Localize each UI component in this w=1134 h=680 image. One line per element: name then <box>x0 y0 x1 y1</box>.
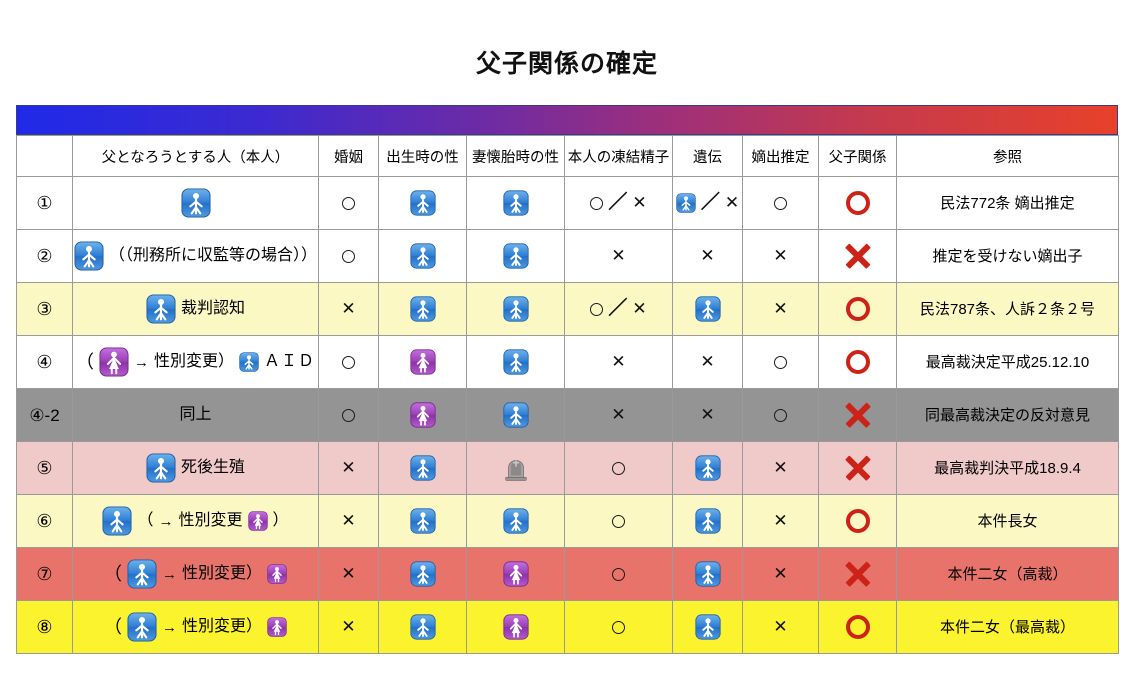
male-person-icon <box>410 190 436 216</box>
row-number: ① <box>36 194 52 212</box>
x-mark: ✕ <box>773 301 787 318</box>
header-cell-genetics: 遺伝 <box>673 136 743 177</box>
male-person-icon <box>102 506 132 536</box>
male-person-icon <box>695 508 721 534</box>
cell-reference: 民法787条、人訴２条２号 <box>897 283 1119 336</box>
cell-marriage: ✕ <box>319 283 379 336</box>
cell-conception-sex <box>467 230 565 283</box>
cell-conception-sex <box>467 336 565 389</box>
male-person-icon <box>127 612 157 642</box>
male-person-icon <box>146 453 176 483</box>
circle-mark <box>612 515 625 528</box>
male-person-icon <box>410 455 436 481</box>
x-mark: ✕ <box>773 248 787 265</box>
cell-birth-sex <box>379 230 467 283</box>
male-person-icon <box>503 296 529 322</box>
header-label-relation: 父子関係 <box>829 146 887 167</box>
female-person-icon <box>503 614 529 640</box>
person-note: 性別変更 <box>178 513 242 529</box>
person-note: 死後生殖 <box>181 460 245 476</box>
table-row: ⑧（→性別変更）✕✕本件二女（最高裁） <box>17 601 1119 654</box>
header-label-reference: 参照 <box>993 146 1022 167</box>
cell-frozen-sperm <box>565 548 673 601</box>
circle-mark <box>774 356 787 369</box>
cell-person: （→性別変更） <box>73 601 319 654</box>
page-title: 父子関係の確定 <box>0 0 1134 77</box>
circle-mark <box>342 409 355 422</box>
cell-relation <box>819 283 897 336</box>
header-cell-num <box>17 136 73 177</box>
cell-reference: 本件二女（高裁） <box>897 548 1119 601</box>
circle-mark <box>342 250 355 263</box>
cell-marriage: ✕ <box>319 442 379 495</box>
cell-row-number: ⑤ <box>17 442 73 495</box>
cell-person: 同上 <box>73 389 319 442</box>
row-number: ⑥ <box>36 512 52 530</box>
cell-person: （→性別変更） <box>73 548 319 601</box>
person-note: 裁判認知 <box>181 301 245 317</box>
cell-conception-sex <box>467 601 565 654</box>
circle-mark <box>342 197 355 210</box>
table-container: 父となろうとする人（本人） 婚姻 出生時の性 妻懐胎時の性 本人の凍結精子 遺伝… <box>16 105 1118 654</box>
female-person-icon <box>503 561 529 587</box>
cell-marriage <box>319 336 379 389</box>
male-person-icon <box>74 241 104 271</box>
cell-presumption: ✕ <box>743 283 819 336</box>
cell-frozen-sperm: ✕ <box>565 230 673 283</box>
big-x-mark <box>845 561 871 587</box>
cell-marriage <box>319 230 379 283</box>
cell-genetics <box>673 601 743 654</box>
aid-label: ＡＩＤ <box>264 354 315 370</box>
cell-frozen-sperm <box>565 601 673 654</box>
row-number: ⑦ <box>36 565 52 583</box>
header-cell-reference: 参照 <box>897 136 1119 177</box>
x-mark: ✕ <box>773 619 787 636</box>
male-person-icon <box>695 614 721 640</box>
cell-reference: 民法772条 嫡出推定 <box>897 177 1119 230</box>
cell-relation <box>819 495 897 548</box>
reference-text: 同最高裁決定の反対意見 <box>925 408 1090 423</box>
grave-icon <box>501 453 531 483</box>
big-x-mark <box>845 402 871 428</box>
female-person-icon <box>267 564 287 584</box>
cell-reference: 最高裁決定平成25.12.10 <box>897 336 1119 389</box>
circle-mark <box>590 303 603 316</box>
paren-open: （ <box>104 565 122 583</box>
female-person-icon <box>99 347 129 377</box>
big-circle-mark <box>846 615 870 639</box>
table-row: ⑥（→性別変更）✕✕本件長女 <box>17 495 1119 548</box>
paren-close: ） <box>273 513 289 529</box>
table-row: ④（→性別変更）ＡＩＤ✕✕最高裁決定平成25.12.10 <box>17 336 1119 389</box>
row-number: ③ <box>36 300 52 318</box>
reference-text: 民法772条 嫡出推定 <box>940 196 1074 211</box>
header-row: 父となろうとする人（本人） 婚姻 出生時の性 妻懐胎時の性 本人の凍結精子 遺伝… <box>17 136 1119 177</box>
header-cell-birth-sex: 出生時の性 <box>379 136 467 177</box>
male-person-icon <box>146 294 176 324</box>
header-cell-marriage: 婚姻 <box>319 136 379 177</box>
x-mark: ✕ <box>700 248 714 265</box>
cell-birth-sex <box>379 442 467 495</box>
male-person-icon <box>695 296 721 322</box>
cell-presumption: ✕ <box>743 548 819 601</box>
male-person-icon <box>695 455 721 481</box>
big-circle-mark <box>846 191 870 215</box>
cell-frozen-sperm <box>565 442 673 495</box>
reference-text: 本件二女（高裁） <box>947 567 1067 582</box>
cell-presumption <box>743 336 819 389</box>
cell-presumption: ✕ <box>743 601 819 654</box>
cell-genetics: ✕ <box>673 389 743 442</box>
cell-frozen-sperm: ✕ <box>565 389 673 442</box>
male-person-icon <box>503 508 529 534</box>
x-mark: ✕ <box>632 301 646 318</box>
cell-frozen-sperm: ／✕ <box>565 283 673 336</box>
cell-conception-sex <box>467 442 565 495</box>
slash-mark: ／ <box>608 193 627 212</box>
cell-birth-sex <box>379 389 467 442</box>
arrow-icon: → <box>162 620 177 635</box>
cell-conception-sex <box>467 283 565 336</box>
reference-text: 最高裁決定平成25.12.10 <box>926 355 1089 370</box>
person-note: 性別変更） <box>182 566 262 582</box>
cell-relation <box>819 442 897 495</box>
cell-relation <box>819 230 897 283</box>
male-person-icon <box>503 349 529 375</box>
female-person-icon <box>267 617 287 637</box>
female-person-icon <box>410 402 436 428</box>
male-person-icon <box>410 243 436 269</box>
cell-marriage <box>319 177 379 230</box>
cell-birth-sex <box>379 601 467 654</box>
cell-person <box>73 177 319 230</box>
reference-text: 本件二女（最高裁） <box>940 620 1075 635</box>
cell-marriage: ✕ <box>319 548 379 601</box>
cell-genetics: ／✕ <box>673 177 743 230</box>
cell-row-number: ② <box>17 230 73 283</box>
header-label-marriage: 婚姻 <box>334 146 363 167</box>
x-mark: ✕ <box>773 566 787 583</box>
x-mark: ✕ <box>341 566 355 583</box>
cell-person: （→性別変更）ＡＩＤ <box>73 336 319 389</box>
row-number: ⑧ <box>36 618 52 636</box>
header-label-conception-sex: 妻懐胎時の性 <box>472 146 559 167</box>
cell-reference: 最高裁判決平成18.9.4 <box>897 442 1119 495</box>
x-mark: ✕ <box>725 195 739 212</box>
cell-row-number: ⑧ <box>17 601 73 654</box>
header-cell-relation: 父子関係 <box>819 136 897 177</box>
x-mark: ✕ <box>341 460 355 477</box>
female-person-icon <box>248 511 268 531</box>
cell-row-number: ⑥ <box>17 495 73 548</box>
cell-reference: 本件二女（最高裁） <box>897 601 1119 654</box>
cell-reference: 本件長女 <box>897 495 1119 548</box>
cell-frozen-sperm <box>565 495 673 548</box>
arrow-icon: → <box>158 514 173 529</box>
male-person-icon <box>410 296 436 322</box>
row-number: ④ <box>36 353 52 371</box>
cell-genetics <box>673 283 743 336</box>
cell-presumption: ✕ <box>743 230 819 283</box>
person-note: （ <box>137 513 153 529</box>
person-note: （（刑務所に収監等の場合）） <box>109 248 317 264</box>
reference-text: 本件長女 <box>977 514 1037 529</box>
cell-person: 裁判認知 <box>73 283 319 336</box>
big-circle-mark <box>846 509 870 533</box>
slash-mark: ／ <box>701 193 720 212</box>
cell-relation <box>819 389 897 442</box>
male-person-icon <box>239 352 259 372</box>
cell-marriage: ✕ <box>319 495 379 548</box>
header-label-birth-sex: 出生時の性 <box>386 146 459 167</box>
row-number: ② <box>36 247 52 265</box>
table-header: 父となろうとする人（本人） 婚姻 出生時の性 妻懐胎時の性 本人の凍結精子 遺伝… <box>17 136 1119 177</box>
circle-mark <box>774 197 787 210</box>
cell-genetics <box>673 442 743 495</box>
cell-birth-sex <box>379 548 467 601</box>
cell-reference: 推定を受けない嫡出子 <box>897 230 1119 283</box>
x-mark: ✕ <box>611 354 625 371</box>
cell-genetics <box>673 495 743 548</box>
cell-frozen-sperm: ✕ <box>565 336 673 389</box>
x-mark: ✕ <box>611 248 625 265</box>
person-note: 性別変更） <box>182 619 262 635</box>
cell-row-number: ① <box>17 177 73 230</box>
row-number: ④-2 <box>29 407 59 424</box>
cell-birth-sex <box>379 336 467 389</box>
cell-presumption: ✕ <box>743 442 819 495</box>
big-circle-mark <box>846 350 870 374</box>
male-person-icon <box>503 402 529 428</box>
cell-person: （（刑務所に収監等の場合）） <box>73 230 319 283</box>
cell-marriage <box>319 389 379 442</box>
cell-row-number: ④-2 <box>17 389 73 442</box>
circle-mark <box>612 462 625 475</box>
header-label-genetics: 遺伝 <box>693 146 722 167</box>
x-mark: ✕ <box>341 513 355 530</box>
header-label-presumption: 嫡出推定 <box>752 146 810 167</box>
cell-relation <box>819 548 897 601</box>
x-mark: ✕ <box>611 407 625 424</box>
female-person-icon <box>410 349 436 375</box>
cell-genetics <box>673 548 743 601</box>
cell-birth-sex <box>379 177 467 230</box>
header-cell-presumption: 嫡出推定 <box>743 136 819 177</box>
cell-genetics: ✕ <box>673 336 743 389</box>
x-mark: ✕ <box>773 460 787 477</box>
table-row: ③裁判認知✕／✕✕民法787条、人訴２条２号 <box>17 283 1119 336</box>
header-cell-conception-sex: 妻懐胎時の性 <box>467 136 565 177</box>
cell-row-number: ④ <box>17 336 73 389</box>
header-cell-frozen-sperm: 本人の凍結精子 <box>565 136 673 177</box>
table-row: ⑤死後生殖✕✕最高裁判決平成18.9.4 <box>17 442 1119 495</box>
male-person-icon <box>127 559 157 589</box>
male-person-icon <box>503 190 529 216</box>
gradient-header-bar <box>16 105 1118 135</box>
big-x-mark <box>845 243 871 269</box>
male-person-icon <box>410 561 436 587</box>
cell-row-number: ③ <box>17 283 73 336</box>
arrow-icon: → <box>162 567 177 582</box>
table-row: ①／✕／✕民法772条 嫡出推定 <box>17 177 1119 230</box>
cell-reference: 同最高裁決定の反対意見 <box>897 389 1119 442</box>
person-note: 性別変更） <box>154 354 234 370</box>
header-label-person: 父となろうとする人（本人） <box>102 146 290 167</box>
male-person-icon <box>695 561 721 587</box>
x-mark: ✕ <box>773 513 787 530</box>
male-person-icon <box>410 614 436 640</box>
paren-open: （ <box>76 353 94 371</box>
circle-mark <box>612 568 625 581</box>
circle-mark <box>774 409 787 422</box>
table-row: ②（（刑務所に収監等の場合））✕✕✕推定を受けない嫡出子 <box>17 230 1119 283</box>
cell-row-number: ⑦ <box>17 548 73 601</box>
table-row: ⑦（→性別変更）✕✕本件二女（高裁） <box>17 548 1119 601</box>
circle-mark <box>612 621 625 634</box>
x-mark: ✕ <box>632 195 646 212</box>
cell-person: （→性別変更） <box>73 495 319 548</box>
cell-relation <box>819 177 897 230</box>
cell-conception-sex <box>467 495 565 548</box>
cell-presumption: ✕ <box>743 495 819 548</box>
header-label-frozen-sperm: 本人の凍結精子 <box>568 146 670 167</box>
big-x-mark <box>845 455 871 481</box>
table-body: ①／✕／✕民法772条 嫡出推定②（（刑務所に収監等の場合））✕✕✕推定を受けな… <box>17 177 1119 654</box>
x-mark: ✕ <box>341 301 355 318</box>
row-number: ⑤ <box>36 459 52 477</box>
cell-frozen-sperm: ／✕ <box>565 177 673 230</box>
cell-marriage: ✕ <box>319 601 379 654</box>
cell-person: 死後生殖 <box>73 442 319 495</box>
header-cell-person: 父となろうとする人（本人） <box>73 136 319 177</box>
reference-text: 推定を受けない嫡出子 <box>932 249 1082 264</box>
cell-conception-sex <box>467 548 565 601</box>
cell-birth-sex <box>379 495 467 548</box>
cell-presumption <box>743 177 819 230</box>
male-person-icon <box>503 243 529 269</box>
paren-open: （ <box>104 618 122 636</box>
arrow-icon: → <box>134 355 149 370</box>
male-person-icon <box>676 193 696 213</box>
cell-relation <box>819 601 897 654</box>
x-mark: ✕ <box>700 354 714 371</box>
circle-mark <box>590 197 603 210</box>
cell-genetics: ✕ <box>673 230 743 283</box>
male-person-icon <box>181 188 211 218</box>
cell-presumption <box>743 389 819 442</box>
father-child-relationship-table: 父となろうとする人（本人） 婚姻 出生時の性 妻懐胎時の性 本人の凍結精子 遺伝… <box>16 135 1119 654</box>
person-note: 同上 <box>179 407 211 423</box>
cell-relation <box>819 336 897 389</box>
table-row: ④-2同上✕✕同最高裁決定の反対意見 <box>17 389 1119 442</box>
x-mark: ✕ <box>341 619 355 636</box>
reference-text: 民法787条、人訴２条２号 <box>920 302 1095 317</box>
big-circle-mark <box>846 297 870 321</box>
circle-mark <box>342 356 355 369</box>
x-mark: ✕ <box>700 407 714 424</box>
reference-text: 最高裁判決平成18.9.4 <box>934 461 1081 476</box>
cell-conception-sex <box>467 389 565 442</box>
cell-conception-sex <box>467 177 565 230</box>
slash-mark: ／ <box>608 299 627 318</box>
cell-birth-sex <box>379 283 467 336</box>
male-person-icon <box>410 508 436 534</box>
